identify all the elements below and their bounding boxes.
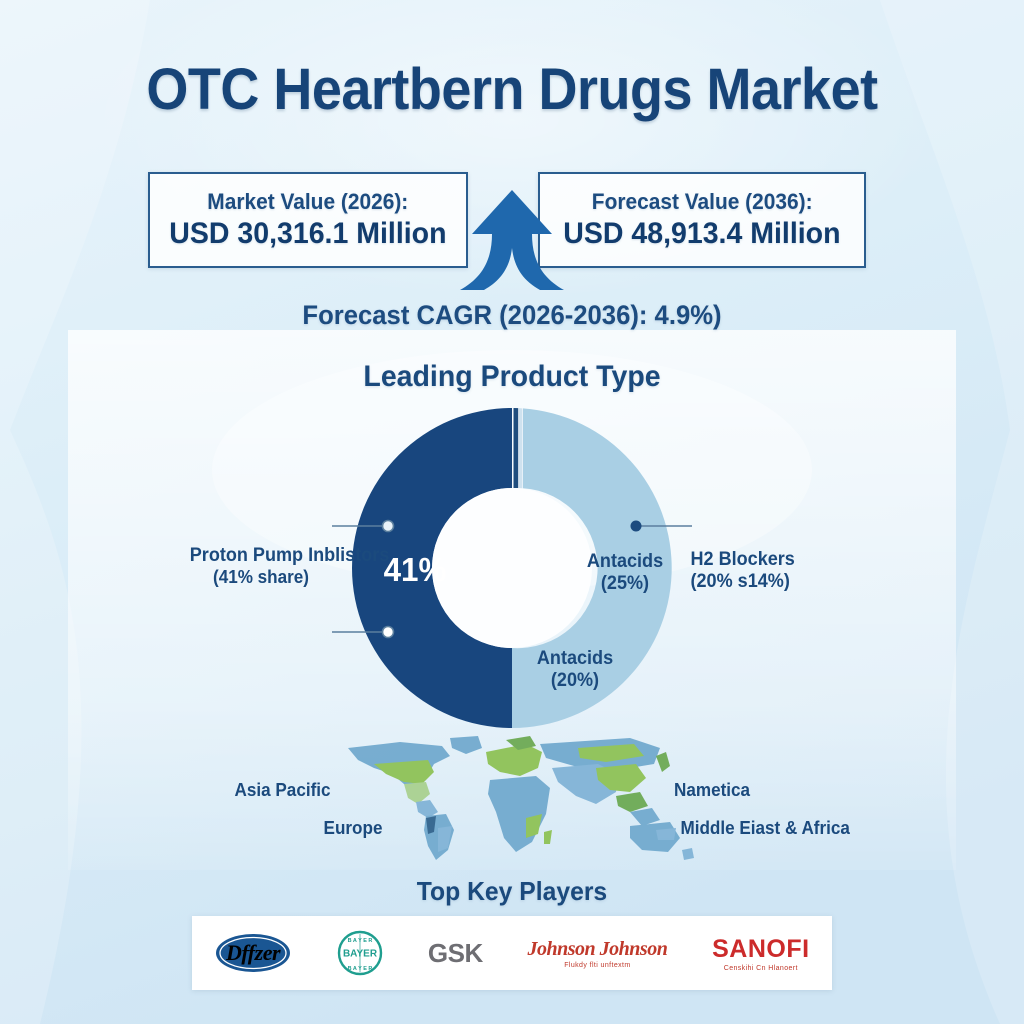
logo-johnson-johnson: Johnson Johnson Flukdy flti unftextm: [528, 938, 668, 969]
logo-sanofi-tagline: Censkihi Cn Hlanoert: [724, 965, 798, 972]
logo-johnson-johnson-text: Johnson Johnson: [528, 938, 668, 961]
page-title: OTC Heartbern Drugs Market: [36, 56, 988, 123]
donut-label-antacids-20-share: (20%): [551, 670, 599, 691]
logo-strip: Dffzer BAYER B A Y E R B A Y E R GSK Joh…: [192, 916, 832, 990]
logo-bayer: BAYER B A Y E R B A Y E R: [337, 930, 383, 976]
market-value-label: Market Value (2026):: [208, 189, 409, 215]
donut-slice-sliver-light: [519, 408, 523, 488]
market-value-box: Market Value (2026): USD 30,316.1 Millio…: [148, 172, 468, 268]
donut-label-proton-pump-name: Proton Pump Inblistors: [190, 545, 390, 566]
region-label-middle-east-africa: Middle Eiast & Africa: [680, 818, 849, 839]
region-label-north-america: Nametica: [674, 780, 750, 801]
donut-label-h2-blockers-name: H2 Blockers: [691, 549, 795, 570]
logo-gsk: GSK: [428, 938, 483, 969]
donut-label-antacids-20-name: Antacids: [537, 648, 613, 669]
donut-slice-sliver-dark: [514, 408, 519, 488]
logo-gsk-text: GSK: [428, 938, 483, 969]
logo-sanofi-text: SANOFI: [712, 935, 809, 964]
up-arrow-icon: [456, 186, 568, 296]
forecast-value-box: Forecast Value (2036): USD 48,913.4 Mill…: [538, 172, 866, 268]
donut-label-proton-pump-share: (41% share): [213, 567, 309, 587]
donut-label-proton-pump: Proton Pump Inblistors (41% share): [190, 545, 333, 590]
forecast-value-label: Forecast Value (2036):: [592, 189, 813, 215]
donut-label-antacids-20: Antacids (20%): [523, 648, 628, 693]
world-map-icon: [330, 734, 702, 862]
donut-label-h2-blockers: H2 Blockers (20% s14%): [691, 549, 862, 594]
donut-label-antacids-25-name: Antacids: [587, 551, 663, 572]
donut-label-h2-blockers-share: (20% s14%): [691, 571, 790, 592]
market-value-amount: USD 30,316.1 Million: [169, 217, 446, 251]
logo-sanofi: SANOFI Censkihi Cn Hlanoert: [712, 935, 809, 972]
donut-label-antacids-25-share: (25%): [601, 573, 649, 594]
logo-pfizer: Dffzer: [214, 932, 292, 974]
players-title: Top Key Players: [26, 876, 999, 907]
forecast-value-amount: USD 48,913.4 Million: [563, 217, 840, 251]
logo-johnson-johnson-tagline: Flukdy flti unftextm: [564, 962, 630, 969]
chart-title: Leading Product Type: [26, 360, 999, 394]
region-label-europe: Europe: [324, 818, 383, 839]
cagr-text: Forecast CAGR (2026-2036): 4.9%): [26, 300, 999, 331]
donut-label-antacids-25: Antacids (25%): [573, 551, 678, 596]
logo-pfizer-text: Dffzer: [225, 940, 281, 965]
region-label-asia-pacific: Asia Pacific: [235, 780, 331, 801]
